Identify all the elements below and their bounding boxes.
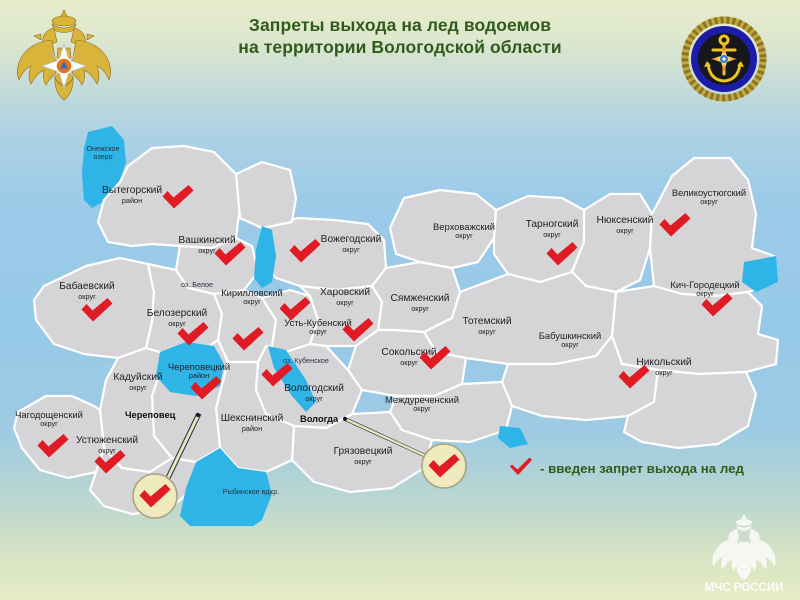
gims-anchor-emblem	[676, 14, 772, 104]
district-shape-nyuksensky	[572, 194, 652, 292]
district-shape-tarnogsky	[494, 196, 584, 282]
infographic-poster: Запреты выхода на лед водоемов на террит…	[0, 0, 800, 600]
district-shape-vytegorsky-east	[236, 162, 296, 228]
district-shape-kich-gorodetsky	[612, 286, 778, 374]
city-marker-череповец	[196, 413, 200, 417]
lake-vozhe	[254, 226, 276, 288]
watermark-text: МЧС РОССИИ	[705, 582, 784, 594]
district-shape-vozhegodsky	[262, 218, 386, 290]
emercom-watermark: МЧС РОССИИ	[698, 512, 790, 594]
title-line-2: на территории Вологодской области	[130, 36, 670, 58]
callout-circle-cherepovets	[133, 474, 177, 518]
legend-label: - введен запрет выхода на лед	[540, 456, 744, 478]
legend-check-icon	[508, 456, 534, 478]
district-shape-vashkinsky	[176, 238, 258, 294]
callout-circle-vologda	[422, 444, 466, 488]
map-legend: - введен запрет выхода на лед	[508, 456, 788, 478]
district-shape-verkhovazhsky	[390, 190, 496, 268]
emercom-eagle-emblem	[8, 4, 120, 108]
city-marker-вологда	[343, 417, 347, 421]
district-shape-babaevsky	[34, 258, 154, 358]
title-line-1: Запреты выхода на лед водоемов	[130, 14, 670, 36]
poster-title: Запреты выхода на лед водоемов на террит…	[130, 14, 670, 59]
district-shape-chagodoshchensky	[14, 396, 104, 478]
river-east-small	[498, 426, 528, 448]
